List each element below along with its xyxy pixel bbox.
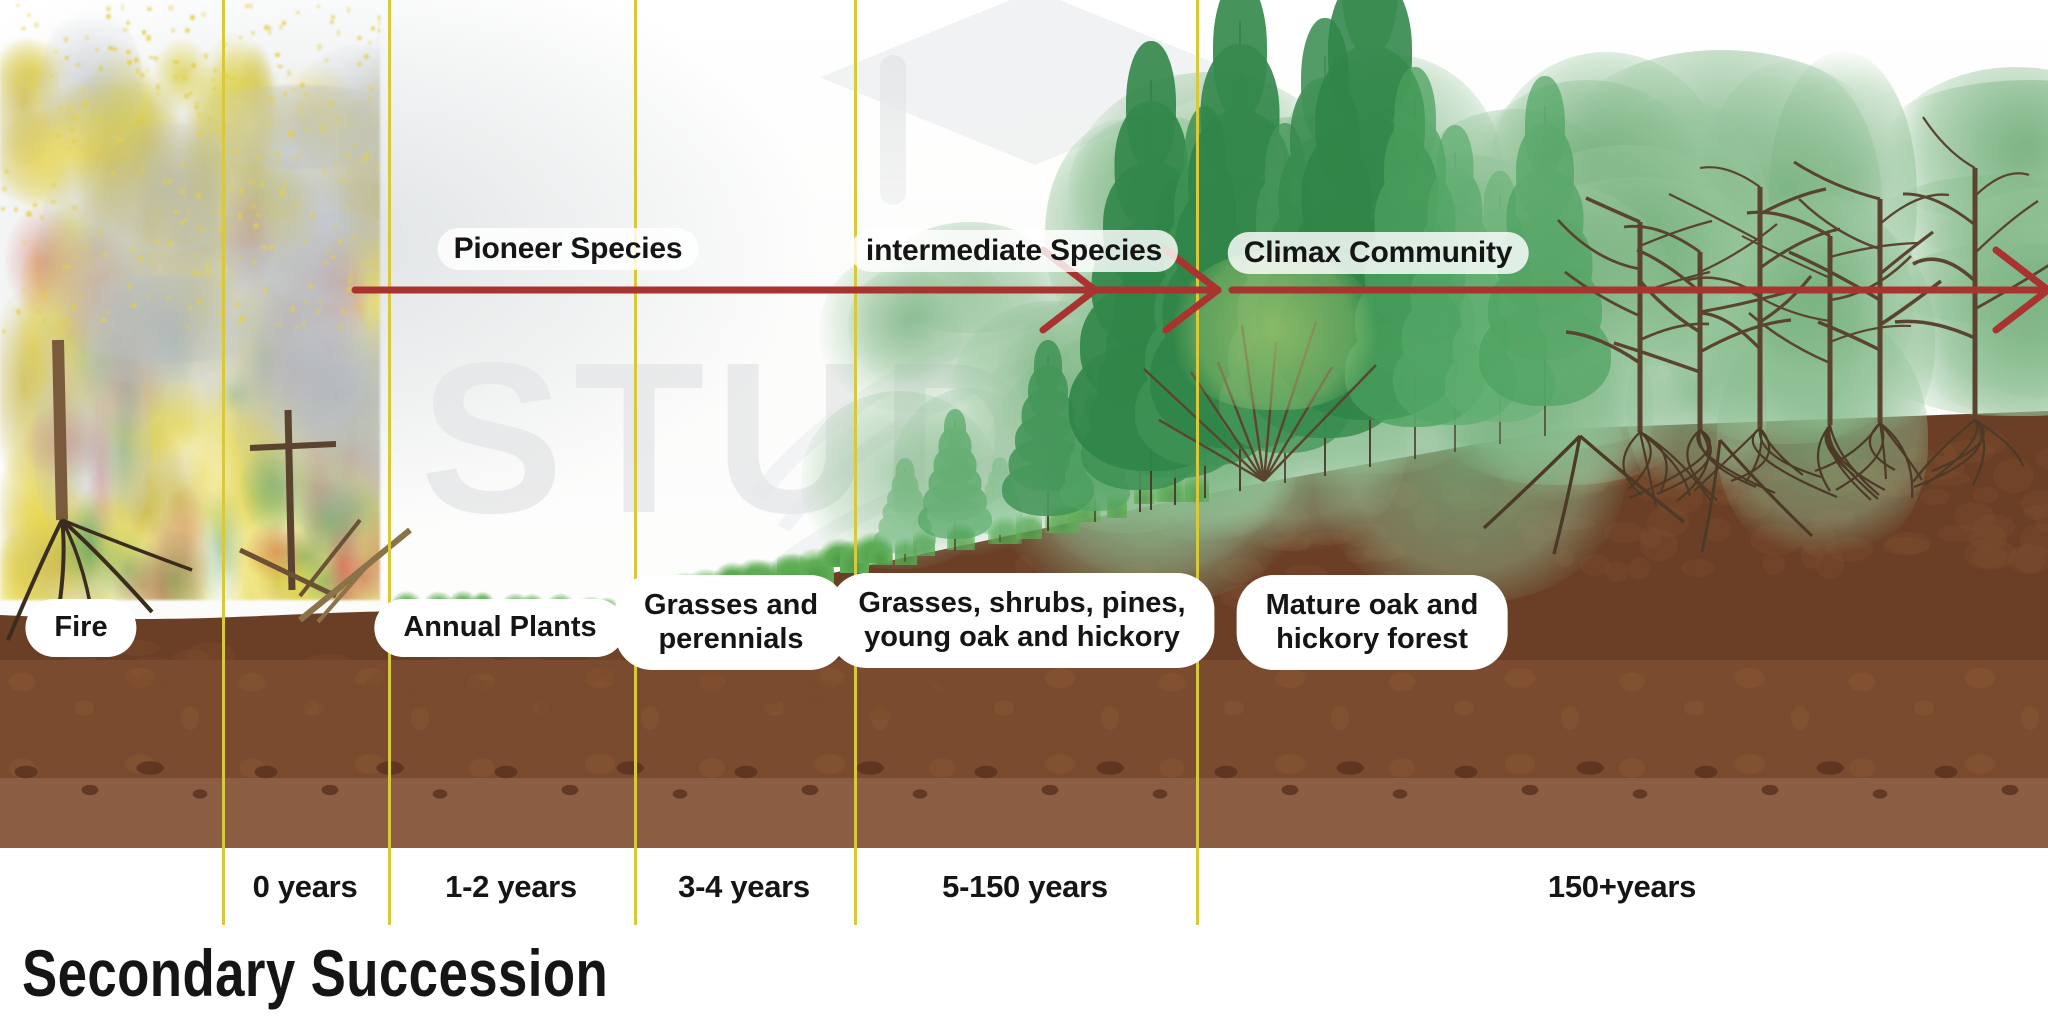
community-label-2: Annual Plants	[377, 602, 622, 654]
stage-divider-1	[222, 0, 225, 848]
arrow-label-2: intermediate Species	[850, 230, 1178, 272]
timeline-cell-1: 0 years	[222, 848, 388, 925]
timeline-divider-4	[854, 848, 857, 925]
timeline-cell-4: 5-150 years	[854, 848, 1196, 925]
stage-divider-4	[854, 0, 857, 848]
timeline-divider-5	[1196, 848, 1199, 925]
page-title: Secondary Succession	[22, 935, 608, 1011]
timeline-divider-3	[634, 848, 637, 925]
arrow-label-1: Pioneer Species	[438, 228, 699, 270]
timeline-cell-3: 3-4 years	[634, 848, 854, 925]
stage-divider-5	[1196, 0, 1199, 848]
stage-divider-2	[388, 0, 391, 848]
community-label-3: Grasses andperennials	[618, 578, 844, 667]
community-label-5: Mature oak andhickory forest	[1240, 578, 1505, 667]
timeline-cell-2: 1-2 years	[388, 848, 634, 925]
title-bar: Secondary Succession	[0, 925, 2048, 1026]
arrow-label-3: Climax Community	[1228, 232, 1529, 274]
community-label-1: Fire	[28, 602, 133, 654]
vegetation-layer	[0, 0, 2048, 848]
timeline-cell-0	[0, 848, 222, 925]
timeline-cell-5: 150+years	[1196, 848, 2048, 925]
community-label-4: Grasses, shrubs, pines,young oak and hic…	[832, 576, 1211, 665]
stage-divider-3	[634, 0, 637, 848]
timeline-divider-2	[388, 848, 391, 925]
timeline-strip: 0 years1-2 years3-4 years5-150 years150+…	[0, 848, 2048, 928]
illustration-scene: STUDY	[0, 0, 2048, 848]
timeline-divider-1	[222, 848, 225, 925]
secondary-succession-infographic: STUDY	[0, 0, 2048, 1026]
